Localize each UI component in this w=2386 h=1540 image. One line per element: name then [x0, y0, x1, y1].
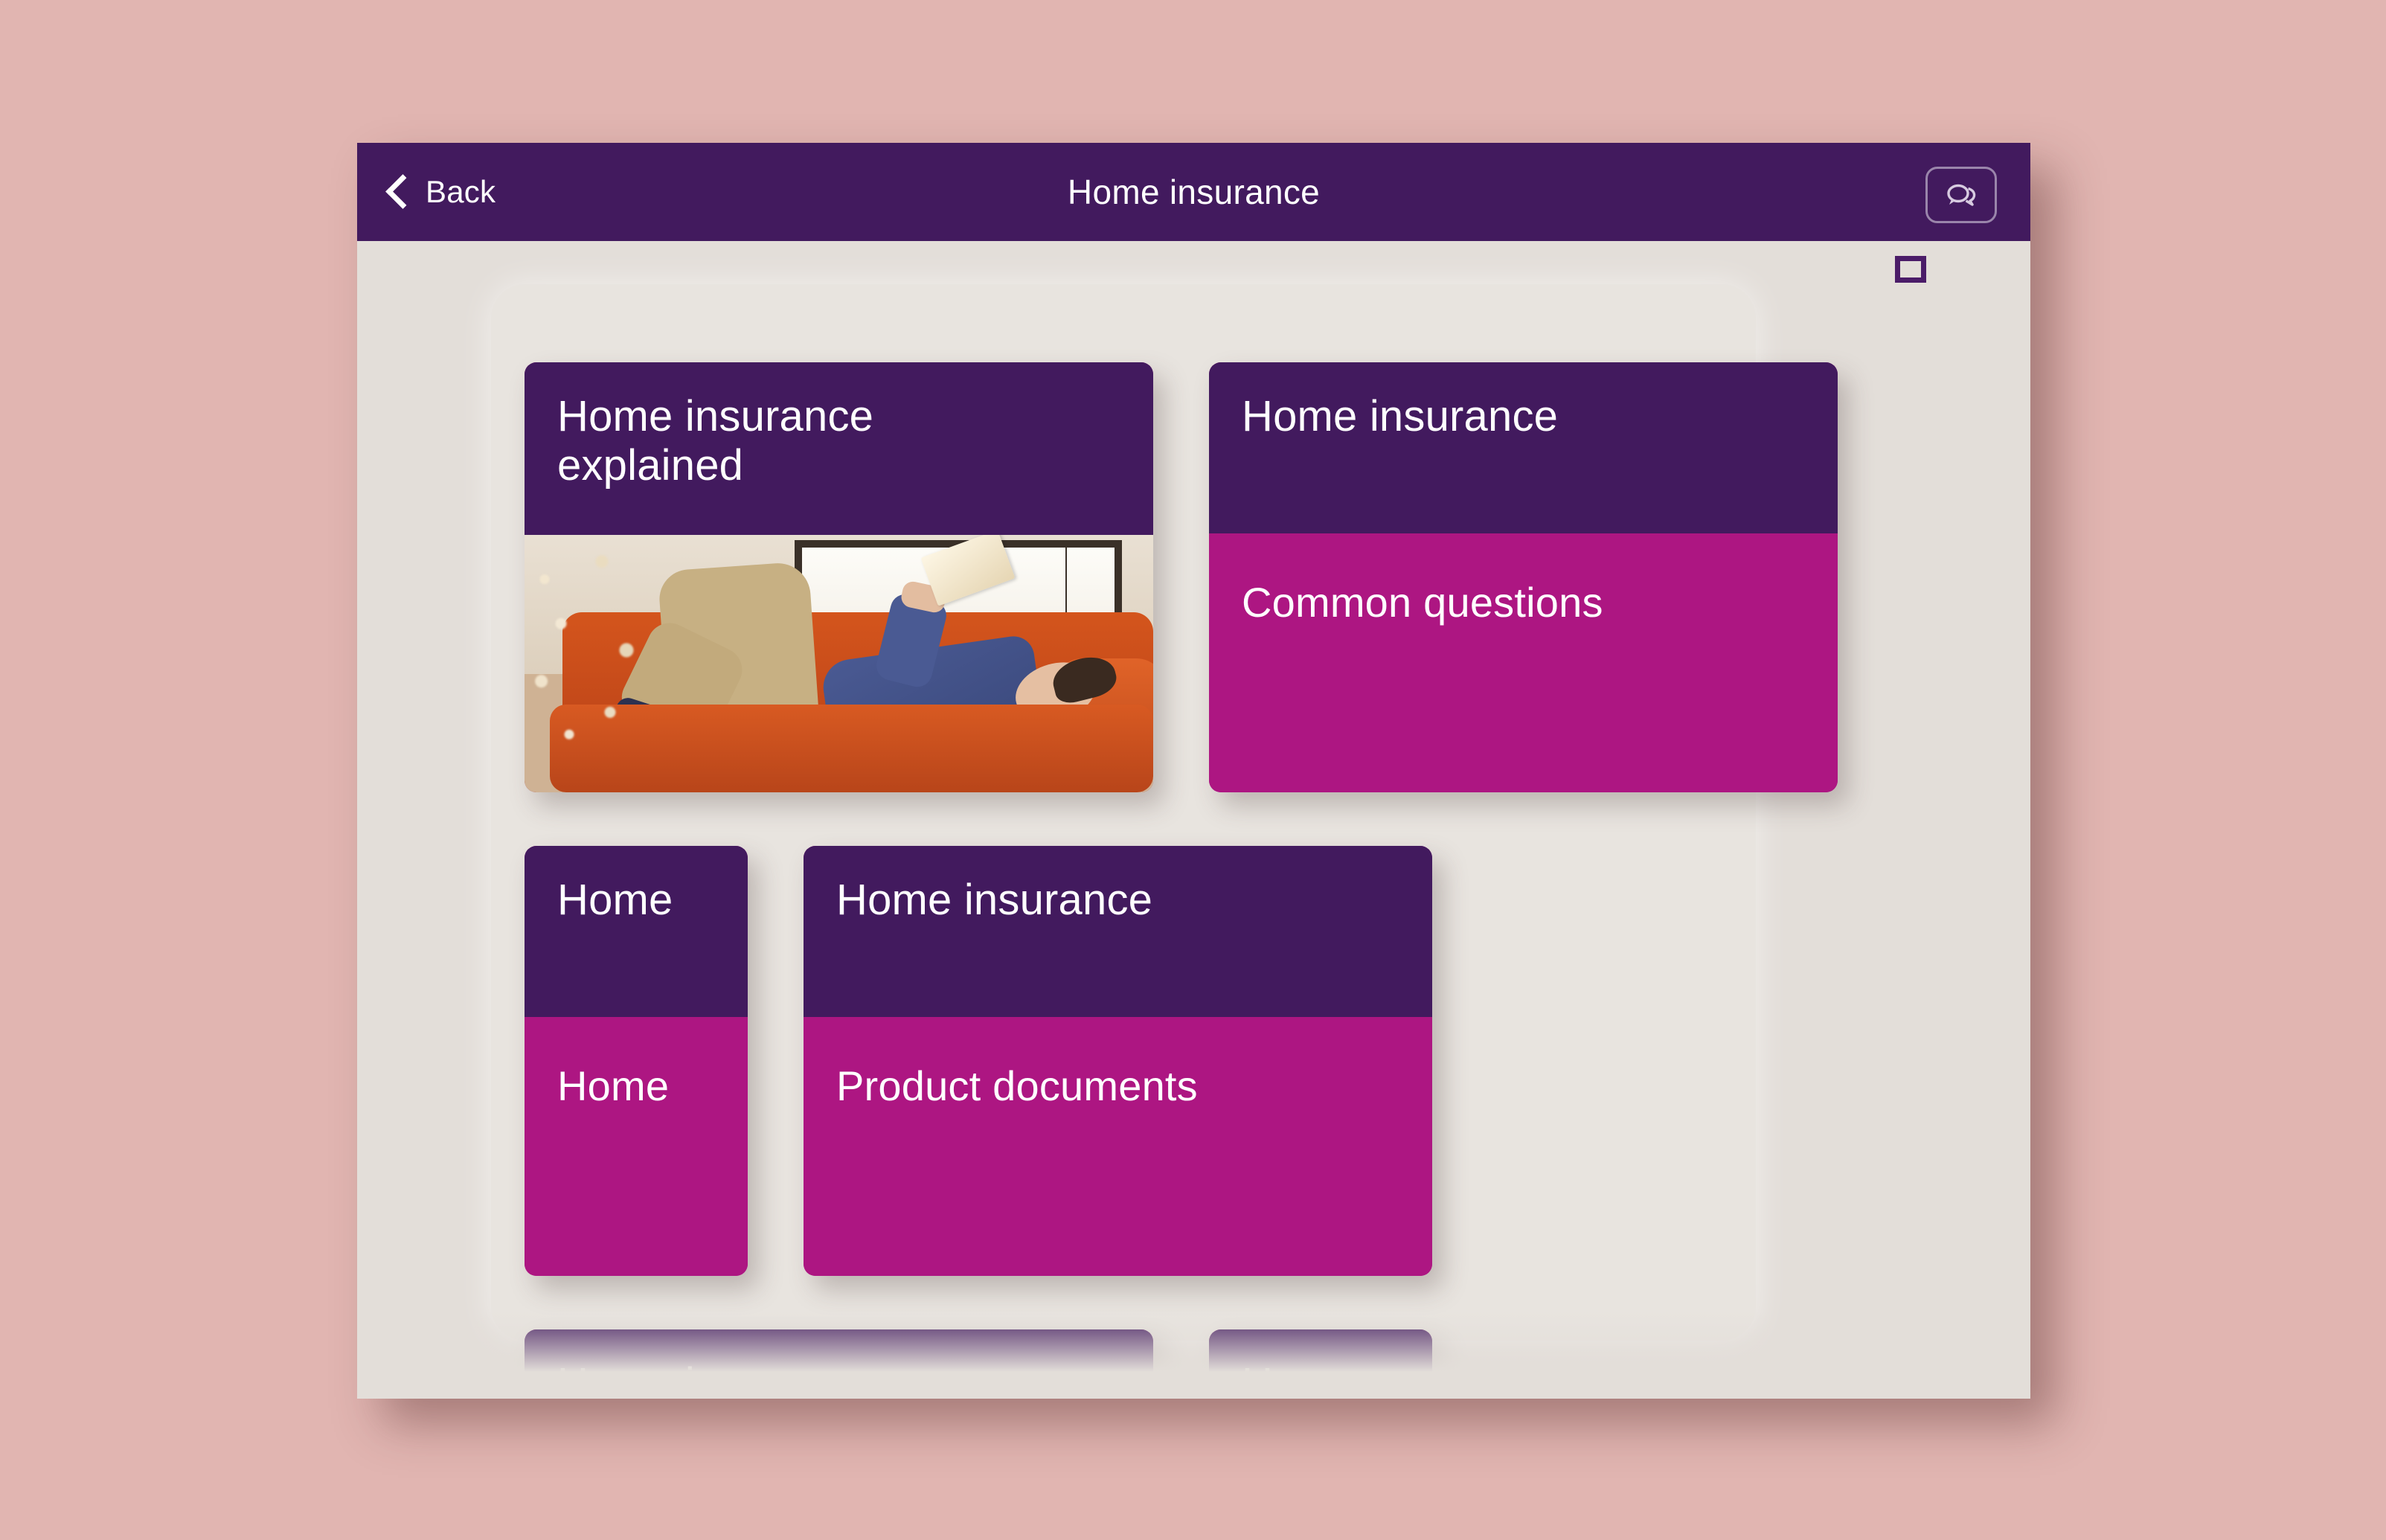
- tile-third-row-one[interactable]: Home Home: [525, 846, 748, 1276]
- photo-man-reading-on-sofa: [525, 535, 1153, 792]
- tile-header: Home: [525, 846, 748, 1017]
- tile-body: Product documents: [804, 1017, 1432, 1276]
- tile-heading: Home: [557, 876, 715, 925]
- tile-header: Home insurance explained: [525, 362, 1153, 535]
- chat-button[interactable]: [1925, 167, 1997, 223]
- tile-header: Home insurance: [1209, 362, 1838, 533]
- tile-header: Home insurance: [804, 846, 1432, 1017]
- chat-bubbles-icon: [1943, 180, 1980, 210]
- chevron-left-icon: [385, 174, 420, 209]
- app-window: Back Home insurance Home insurance expla…: [357, 143, 2030, 1399]
- tile-heading: Home insurance explained: [557, 392, 1120, 490]
- tile-header: Home insurance: [525, 1329, 1153, 1399]
- tile-body: Home: [525, 1017, 748, 1276]
- content-area: Home insurance explained: [357, 241, 2030, 1399]
- tile-grid: Home insurance explained: [525, 362, 2030, 1399]
- tile-subheading: Home: [557, 1063, 715, 1109]
- tile-application[interactable]: Home insurance Application: [525, 1329, 1153, 1399]
- page-title-text: Home insurance: [1068, 172, 1320, 212]
- back-button[interactable]: Back: [391, 143, 507, 241]
- tile-product-documents[interactable]: Home insurance Product documents: [804, 846, 1432, 1276]
- tile-heading: Home: [1242, 1359, 1399, 1399]
- tile-heading: Home insurance: [836, 876, 1399, 925]
- tile-subheading: Common questions: [1242, 580, 1805, 626]
- square-outline-icon[interactable]: [1895, 256, 1926, 283]
- page-title: Home insurance: [357, 143, 2030, 241]
- tile-common-questions[interactable]: Home insurance Common questions: [1209, 362, 1838, 792]
- tile-third-row-two[interactable]: Home Home: [1209, 1329, 1432, 1399]
- tile-heading: Home insurance: [557, 1359, 1120, 1399]
- tile-photo: [525, 535, 1153, 792]
- tile-header: Home: [1209, 1329, 1432, 1399]
- tile-body: Common questions: [1209, 533, 1838, 792]
- back-button-label: Back: [426, 176, 496, 208]
- top-navigation-bar: Back Home insurance: [357, 143, 2030, 241]
- tile-heading: Home insurance: [1242, 392, 1805, 441]
- tile-subheading: Product documents: [836, 1063, 1399, 1109]
- tile-home-insurance-explained[interactable]: Home insurance explained: [525, 362, 1153, 792]
